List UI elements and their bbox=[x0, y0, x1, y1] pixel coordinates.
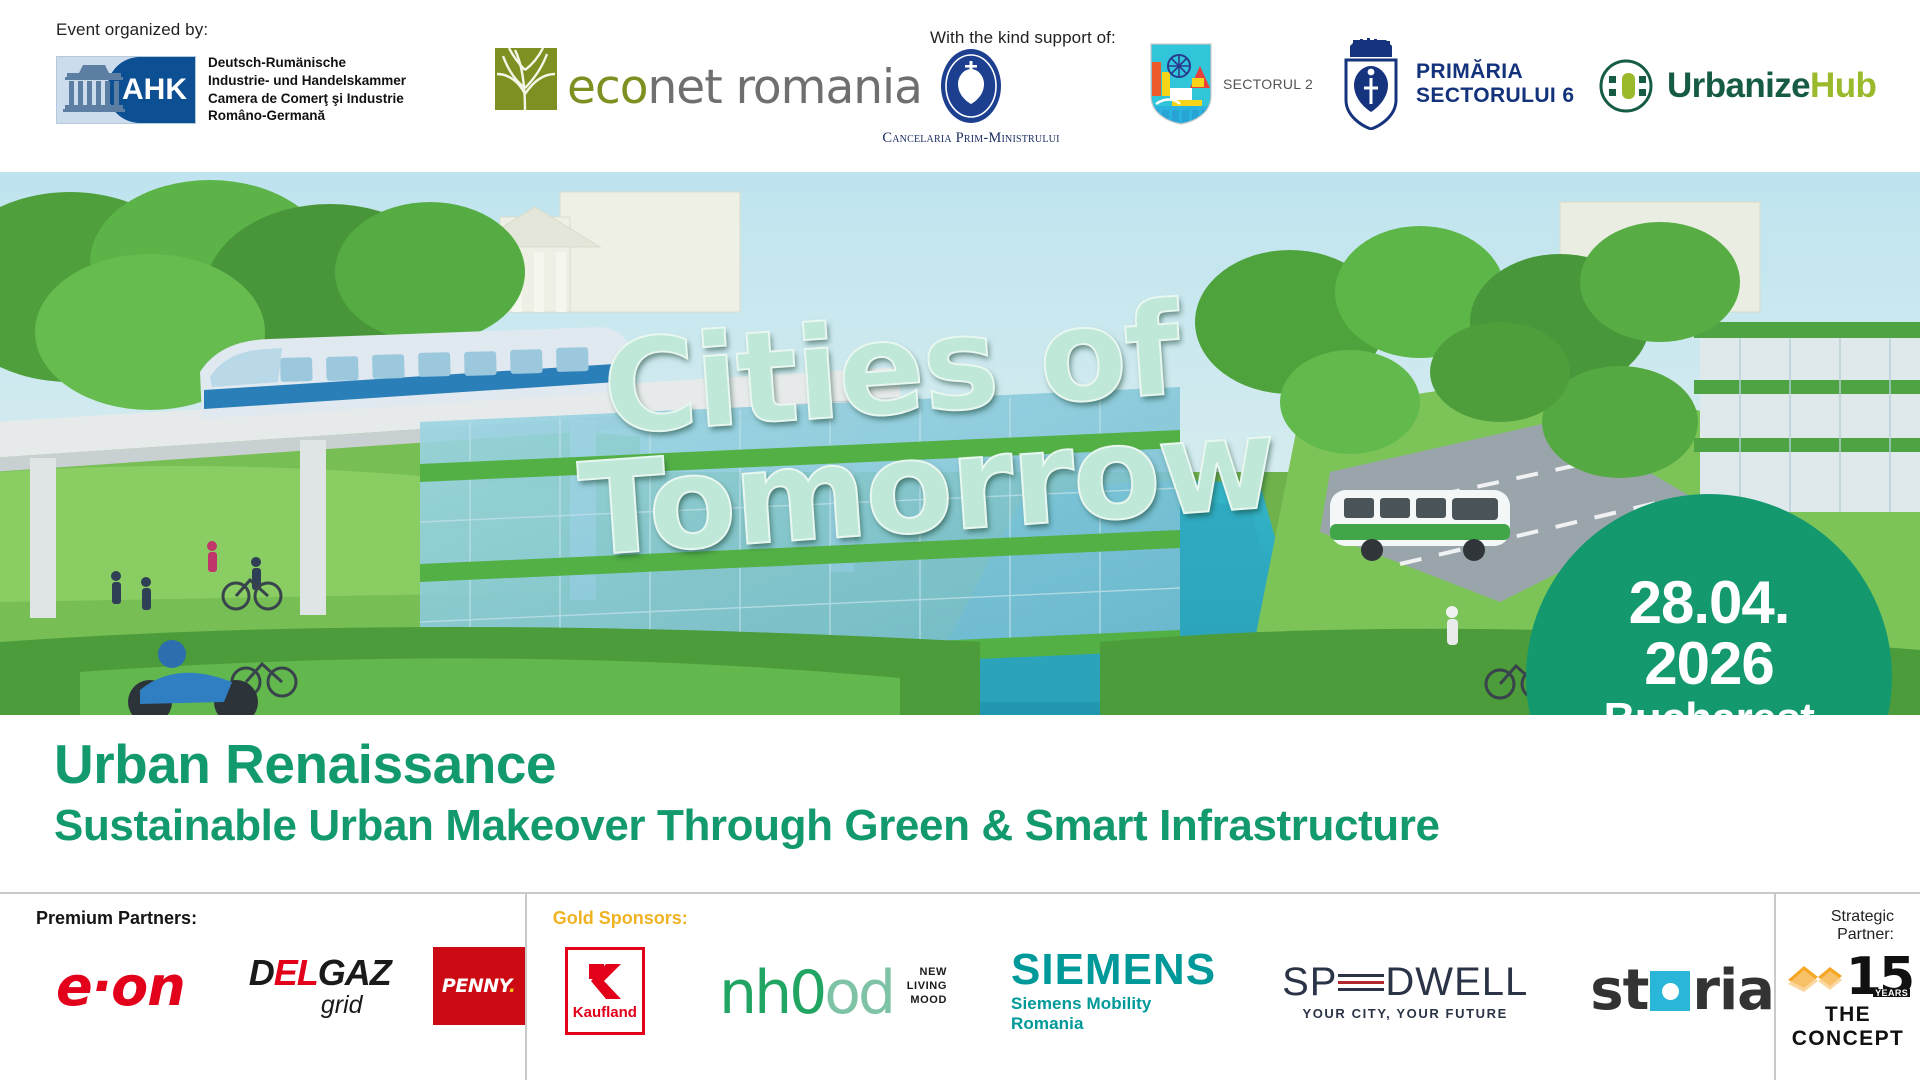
page-subtitle: Sustainable Urban Makeover Through Green… bbox=[54, 800, 1920, 852]
logo-kaufland[interactable]: Kaufland bbox=[565, 947, 645, 1035]
premium-partners-heading: Premium Partners: bbox=[36, 908, 525, 929]
hero-banner: Cities of Tomorrow 28.04. 2026 Bucharest… bbox=[0, 172, 1920, 715]
sector6-label-line-2: SECTORULUI 6 bbox=[1416, 84, 1574, 108]
the-concept-wordmark: THE CONCEPT bbox=[1776, 1003, 1920, 1051]
gold-sponsor-logos: Kaufland nh0od NEW LIVING MOOD SIEMENS S… bbox=[527, 947, 1774, 1035]
organized-by-label: Event organized by: bbox=[56, 20, 208, 40]
the-concept-arrow-icon bbox=[1784, 954, 1846, 1000]
ahk-name-line-4: Româno-Germană bbox=[208, 107, 406, 125]
ahk-name-line-1: Deutsch-Rumänische bbox=[208, 54, 406, 72]
gold-sponsors-section: Gold Sponsors: Kaufland nh0od NEW LIVING… bbox=[525, 894, 1774, 1080]
the-concept-years-label: YEARS bbox=[1873, 989, 1910, 997]
header-partners-bar: Event organized by: With the kind suppor… bbox=[0, 0, 1920, 172]
strategic-partner-heading: Strategic Partner: bbox=[1776, 908, 1920, 944]
sector2-label: SECTORUL 2 bbox=[1223, 76, 1313, 92]
ahk-name-line-3: Camera de Comerţ şi Industrie bbox=[208, 90, 406, 108]
event-year: 2026 bbox=[1644, 633, 1773, 694]
sector6-crest-icon bbox=[1340, 38, 1402, 130]
the-concept-anniversary-number: 15 YEARS bbox=[1846, 954, 1912, 1001]
speedwell-suffix: DWELL bbox=[1385, 962, 1528, 1002]
sponsors-footer: Premium Partners: e·on DELGAZ grid PENNY… bbox=[0, 892, 1920, 1080]
delgaz-letters-gaz: GAZ bbox=[318, 952, 391, 993]
logo-eon[interactable]: e·on bbox=[56, 955, 185, 1018]
urbanizehub-icon bbox=[1598, 58, 1654, 114]
nhood-tagline: NEW LIVING MOOD bbox=[899, 965, 947, 1008]
storia-suffix: ria bbox=[1692, 963, 1774, 1019]
econet-word-net: net bbox=[648, 60, 722, 115]
logo-government-romania[interactable]: Cancelaria Prim-Ministrului bbox=[860, 47, 1082, 147]
event-city: Bucharest bbox=[1604, 694, 1815, 715]
delgaz-wordmark: DELGAZ bbox=[249, 955, 391, 991]
urbanizehub-word-urbanize: Urbanize bbox=[1667, 66, 1810, 105]
delgaz-grid-word: grid bbox=[293, 993, 391, 1018]
ahk-full-name: Deutsch-Rumänische Industrie- und Handel… bbox=[208, 54, 406, 125]
logo-sector-2[interactable]: SECTORUL 2 bbox=[1148, 42, 1313, 126]
delgaz-letter-d: D bbox=[249, 952, 274, 993]
nhood-letter-zero: 0 bbox=[789, 958, 824, 1028]
penny-wordmark: PENNY. bbox=[442, 975, 516, 997]
kaufland-wordmark: Kaufland bbox=[573, 1004, 637, 1021]
the-concept-number-text: 15 bbox=[1846, 947, 1912, 1007]
ahk-name-line-2: Industrie- und Handelskammer bbox=[208, 72, 406, 90]
sector6-label-line-1: PRIMĂRIA bbox=[1416, 60, 1574, 84]
ahk-badge: AHK bbox=[56, 56, 196, 124]
logo-penny[interactable]: PENNY. bbox=[433, 947, 525, 1025]
urbanizehub-wordmark: UrbanizeHub bbox=[1667, 66, 1876, 106]
premium-partner-logos: e·on DELGAZ grid PENNY. bbox=[36, 947, 525, 1025]
premium-partners-section: Premium Partners: e·on DELGAZ grid PENNY… bbox=[0, 894, 525, 1080]
page-title: Urban Renaissance bbox=[54, 733, 1920, 796]
ahk-abbreviation: AHK bbox=[122, 73, 187, 107]
nhood-wordmark: nh0od bbox=[719, 969, 893, 1017]
event-day-month: 28.04. bbox=[1629, 573, 1790, 633]
nhood-letters-od: od bbox=[824, 958, 893, 1028]
government-seal-icon bbox=[938, 47, 1004, 125]
event-title-band: Urban Renaissance Sustainable Urban Make… bbox=[0, 715, 1920, 892]
siemens-subline: Siemens Mobility Romania bbox=[1011, 994, 1216, 1034]
storia-o-icon bbox=[1650, 971, 1690, 1011]
government-caption: Cancelaria Prim-Ministrului bbox=[860, 130, 1082, 147]
brandenburg-gate-icon bbox=[63, 63, 125, 121]
speedwell-prefix: SP bbox=[1282, 962, 1337, 1002]
logo-storia[interactable]: st ria bbox=[1590, 963, 1774, 1019]
logo-delgaz-grid[interactable]: DELGAZ grid bbox=[249, 955, 391, 1018]
penny-dot: . bbox=[509, 975, 516, 997]
gold-sponsors-heading: Gold Sponsors: bbox=[527, 908, 1774, 929]
speedwell-tagline: YOUR CITY, YOUR FUTURE bbox=[1282, 1006, 1528, 1021]
sector2-crest-icon bbox=[1148, 42, 1214, 126]
kind-support-label: With the kind support of: bbox=[930, 28, 1116, 48]
logo-speedwell[interactable]: SPDWELL YOUR CITY, YOUR FUTURE bbox=[1282, 962, 1528, 1021]
logo-ahk[interactable]: AHK Deutsch-Rumänische Industrie- und Ha… bbox=[56, 54, 406, 125]
storia-prefix: st bbox=[1590, 963, 1648, 1019]
siemens-wordmark: SIEMENS bbox=[1011, 948, 1216, 992]
logo-urbanizehub[interactable]: UrbanizeHub bbox=[1598, 58, 1876, 114]
strategic-partner-section: Strategic Partner: 15 YEARS THE CONCEPT bbox=[1774, 894, 1920, 1080]
nhood-tagline-line-1: NEW LIVING bbox=[899, 965, 947, 994]
kaufland-k-icon bbox=[585, 961, 625, 1001]
speedwell-wordmark: SPDWELL bbox=[1282, 962, 1528, 1002]
logo-nhood[interactable]: nh0od NEW LIVING MOOD bbox=[719, 965, 947, 1018]
logo-the-concept[interactable]: 15 YEARS THE CONCEPT bbox=[1776, 954, 1920, 1051]
econet-word-eco: eco bbox=[567, 60, 648, 115]
logo-siemens[interactable]: SIEMENS Siemens Mobility Romania bbox=[1011, 948, 1216, 1034]
logo-econet-romania[interactable]: econet romania bbox=[495, 48, 922, 110]
urbanizehub-word-hub: Hub bbox=[1810, 66, 1876, 105]
logo-sector-6[interactable]: PRIMĂRIA SECTORULUI 6 bbox=[1340, 38, 1574, 130]
speedwell-bars-icon bbox=[1338, 965, 1384, 999]
sector6-label: PRIMĂRIA SECTORULUI 6 bbox=[1416, 60, 1574, 108]
penny-text: PENNY bbox=[442, 975, 509, 997]
econet-leaf-icon bbox=[495, 48, 557, 110]
delgaz-letters-el: EL bbox=[274, 952, 318, 993]
event-banner: Event organized by: With the kind suppor… bbox=[0, 0, 1920, 1080]
nhood-letters-nh: nh bbox=[719, 958, 789, 1028]
nhood-tagline-line-2: MOOD bbox=[899, 993, 947, 1007]
